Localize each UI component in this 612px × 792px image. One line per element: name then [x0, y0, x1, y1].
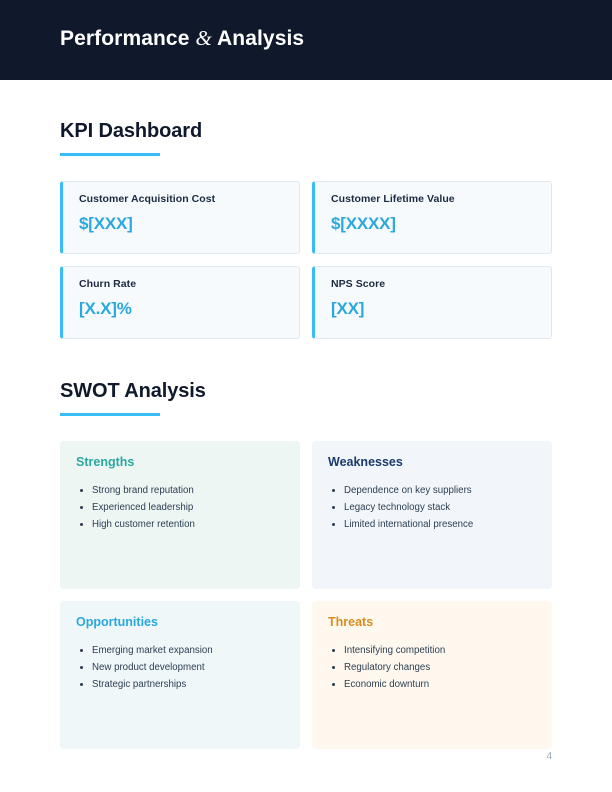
header-title-part2: Analysis [212, 27, 304, 50]
kpi-card: Churn Rate [X.X]% [60, 266, 300, 339]
page-header-band: Performance & Analysis [0, 0, 612, 80]
swot-card-grid: Strengths Strong brand reputation Experi… [60, 441, 552, 761]
kpi-value: $[XXX] [79, 214, 299, 234]
swot-card-opportunities: Opportunities Emerging market expansion … [60, 601, 300, 749]
kpi-card: Customer Lifetime Value $[XXXX] [312, 181, 552, 254]
swot-card-title: Threats [328, 615, 536, 629]
swot-card-title: Weaknesses [328, 455, 536, 469]
list-item: Limited international presence [328, 517, 536, 532]
kpi-row: Churn Rate [X.X]% NPS Score [XX] [60, 266, 552, 339]
list-item: Experienced leadership [76, 500, 284, 515]
kpi-section-title: KPI Dashboard [60, 120, 202, 143]
header-title-ampersand: & [195, 26, 211, 50]
kpi-card: NPS Score [XX] [312, 266, 552, 339]
header-title-part1: Performance [60, 27, 195, 50]
list-item: Regulatory changes [328, 660, 536, 675]
swot-item-list: Emerging market expansion New product de… [76, 643, 284, 692]
swot-item-list: Strong brand reputation Experienced lead… [76, 483, 284, 532]
swot-section-heading: SWOT Analysis [60, 380, 206, 416]
document-page: Performance & Analysis KPI Dashboard Cus… [0, 0, 612, 792]
list-item: Economic downturn [328, 677, 536, 692]
page-number: 4 [532, 751, 552, 762]
kpi-label: NPS Score [331, 278, 551, 290]
kpi-section-heading: KPI Dashboard [60, 120, 202, 156]
swot-card-title: Opportunities [76, 615, 284, 629]
swot-card-strengths: Strengths Strong brand reputation Experi… [60, 441, 300, 589]
swot-item-list: Dependence on key suppliers Legacy techn… [328, 483, 536, 532]
list-item: High customer retention [76, 517, 284, 532]
kpi-label: Customer Acquisition Cost [79, 193, 299, 205]
swot-card-threats: Threats Intensifying competition Regulat… [312, 601, 552, 749]
list-item: Emerging market expansion [76, 643, 284, 658]
swot-card-title: Strengths [76, 455, 284, 469]
list-item: Strong brand reputation [76, 483, 284, 498]
kpi-section-underline [60, 153, 160, 156]
kpi-card: Customer Acquisition Cost $[XXX] [60, 181, 300, 254]
kpi-card-grid: Customer Acquisition Cost $[XXX] Custome… [60, 181, 552, 351]
page-header-title: Performance & Analysis [60, 26, 304, 51]
list-item: Legacy technology stack [328, 500, 536, 515]
list-item: Strategic partnerships [76, 677, 284, 692]
kpi-value: $[XXXX] [331, 214, 551, 234]
swot-item-list: Intensifying competition Regulatory chan… [328, 643, 536, 692]
list-item: New product development [76, 660, 284, 675]
swot-section-underline [60, 413, 160, 416]
swot-row: Opportunities Emerging market expansion … [60, 601, 552, 749]
list-item: Dependence on key suppliers [328, 483, 536, 498]
kpi-value: [XX] [331, 299, 551, 319]
kpi-row: Customer Acquisition Cost $[XXX] Custome… [60, 181, 552, 254]
swot-section-title: SWOT Analysis [60, 380, 206, 403]
list-item: Intensifying competition [328, 643, 536, 658]
swot-card-weaknesses: Weaknesses Dependence on key suppliers L… [312, 441, 552, 589]
kpi-value: [X.X]% [79, 299, 299, 319]
kpi-label: Churn Rate [79, 278, 299, 290]
kpi-label: Customer Lifetime Value [331, 193, 551, 205]
swot-row: Strengths Strong brand reputation Experi… [60, 441, 552, 589]
